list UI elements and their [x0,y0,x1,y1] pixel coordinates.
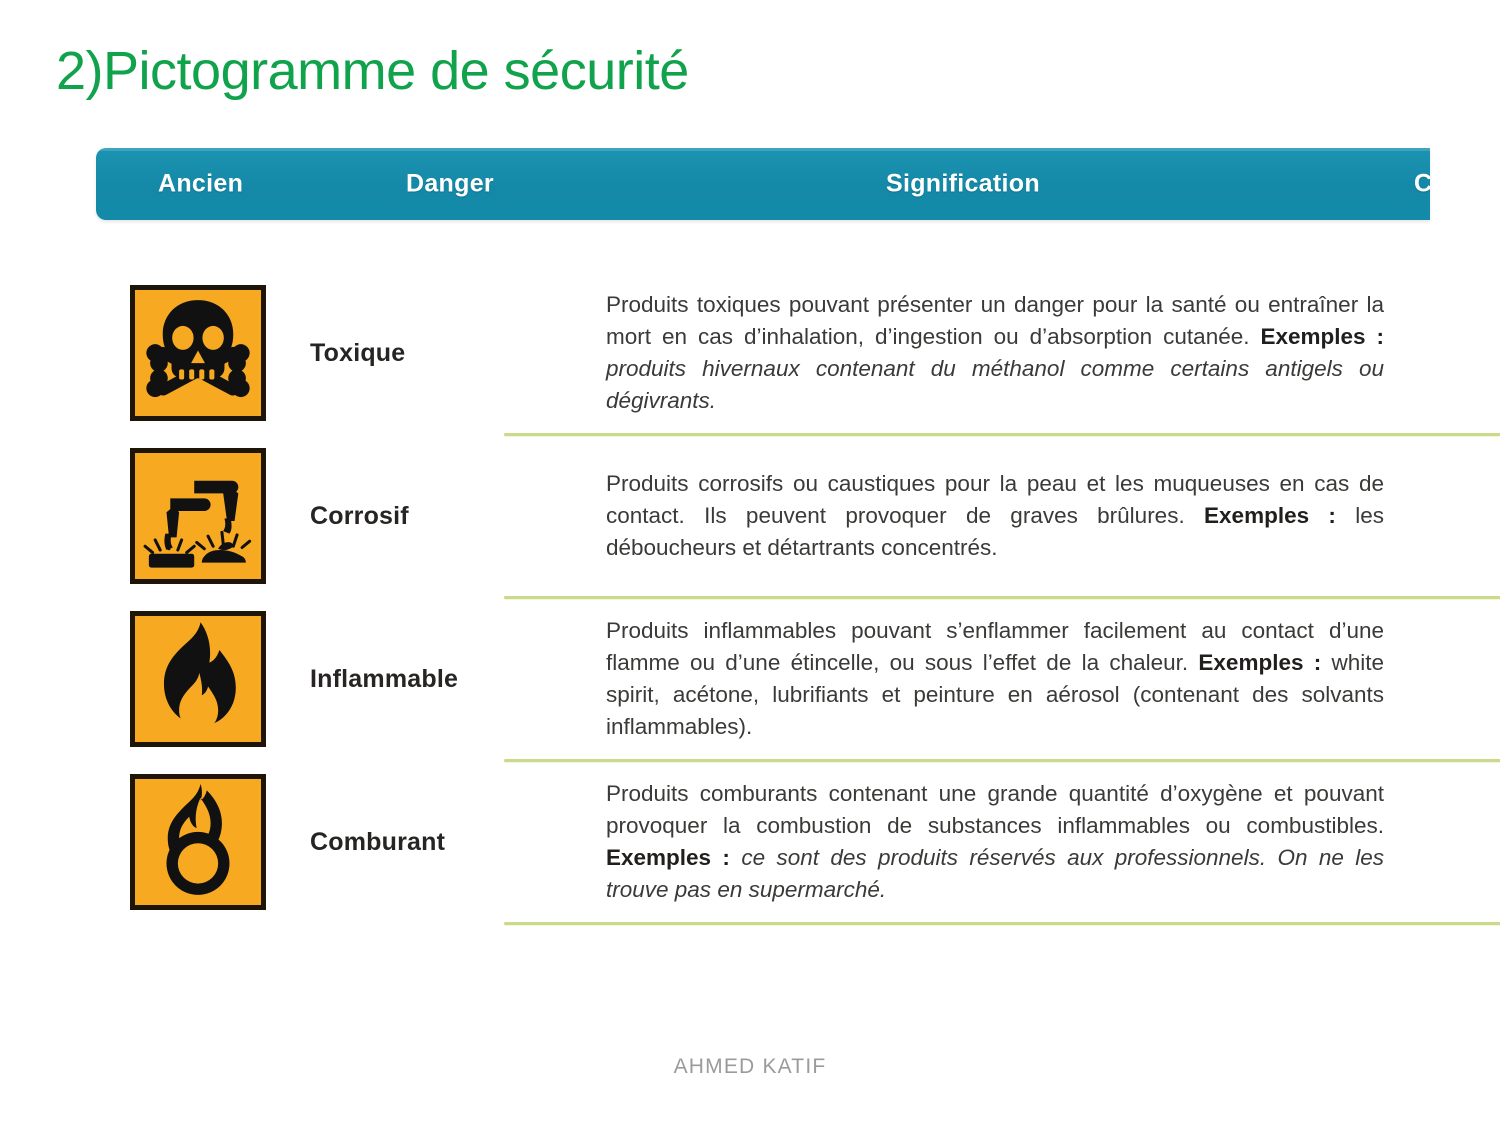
examples-label: Exemples : [1260,324,1384,349]
danger-label: Comburant [300,828,600,857]
page-title: 2)Pictogramme de sécurité [56,42,689,101]
examples-label: Exemples : [1198,650,1331,675]
signification-text: Produits inflammables pouvant s’enflamme… [600,609,1430,749]
table-row: Comburant Produits comburants contenant … [96,762,1430,922]
danger-label: Toxique [300,339,600,368]
pictogram-cell [96,285,300,421]
danger-label: Inflammable [300,665,600,694]
column-header-cut-off: C [1414,170,1430,199]
column-header-ancien: Ancien [158,170,243,199]
table-row: Inflammable Produits inflammables pouvan… [96,599,1430,759]
oxidizer-flame-over-circle-icon [130,774,266,910]
signification-lead: Produits comburants contenant une grande… [606,781,1384,838]
examples-text: produits hivernaux contenant du méthanol… [606,356,1384,413]
table-row: Corrosif Produits corrosifs ou caustique… [96,436,1430,596]
signification-text: Produits comburants contenant une grande… [600,772,1430,912]
hazard-pictogram-table: Ancien Danger Signification C [96,148,1430,928]
column-header-signification: Signification [886,170,1040,199]
column-header-danger: Danger [406,170,494,199]
pictogram-cell [96,611,300,747]
pictogram-cell [96,448,300,584]
examples-label: Exemples : [606,845,741,870]
signification-text: Produits corrosifs ou caustiques pour la… [600,462,1430,570]
corrosive-icon [130,448,266,584]
table-row: Toxique Produits toxiques pouvant présen… [96,273,1430,433]
skull-and-crossbones-icon [130,285,266,421]
slide-footer: AHMED KATIF [0,1055,1500,1079]
signification-text: Produits toxiques pouvant présenter un d… [600,283,1430,423]
pictogram-cell [96,774,300,910]
table-header-row: Ancien Danger Signification C [96,148,1430,220]
examples-label: Exemples : [1204,503,1355,528]
row-divider [504,922,1500,925]
danger-label: Corrosif [300,502,600,531]
table-body: Toxique Produits toxiques pouvant présen… [96,273,1430,925]
flame-icon [130,611,266,747]
